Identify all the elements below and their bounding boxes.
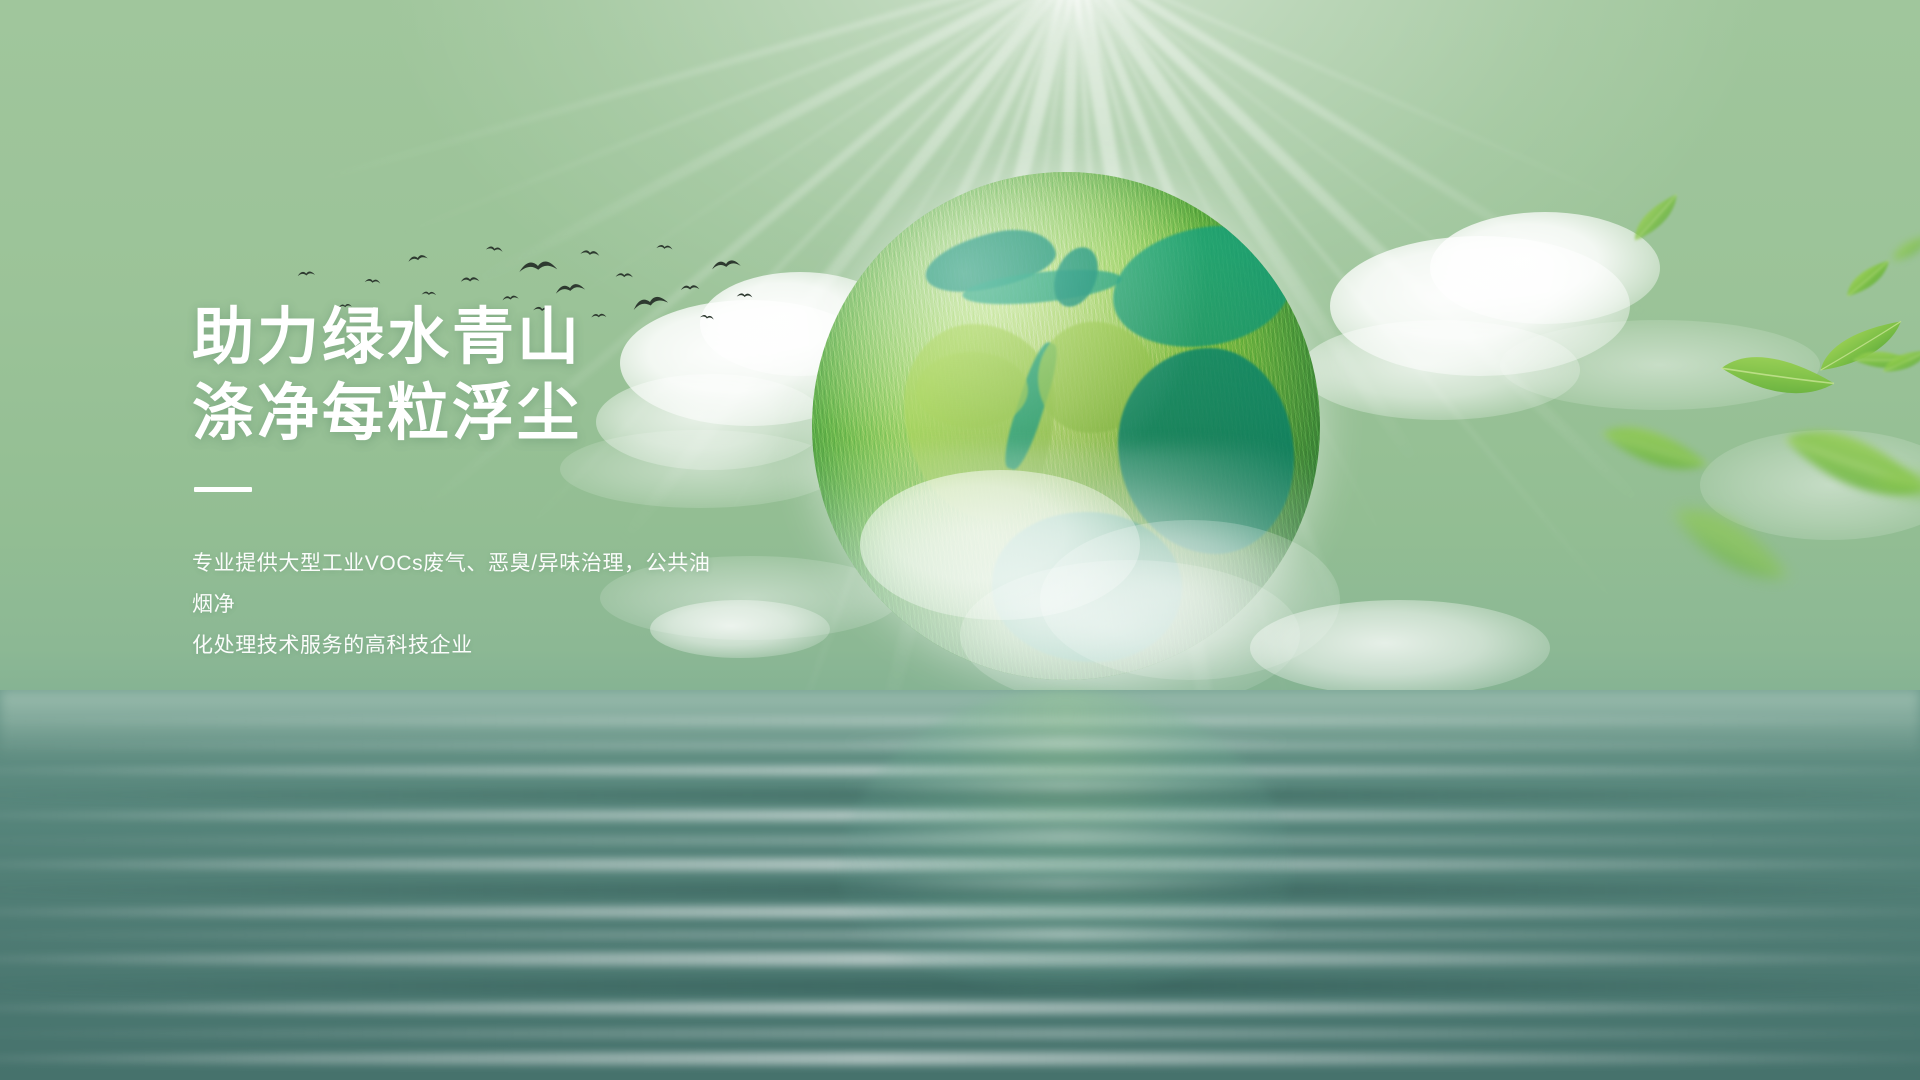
wave-13	[0, 1002, 1920, 1014]
hero-copy: 助力绿水青山 涤净每粒浮尘 专业提供大型工业VOCs废气、恶臭/异味治理，公共油…	[192, 300, 832, 667]
bird-icon	[679, 282, 709, 294]
wave-4	[0, 788, 1920, 802]
leaf-icon	[1661, 479, 1799, 615]
wave-3	[0, 766, 1920, 775]
page-title: 助力绿水青山 涤净每粒浮尘	[192, 300, 832, 451]
bird-icon	[655, 242, 681, 253]
globe-sphere	[812, 172, 1320, 680]
wave-9	[0, 906, 1920, 918]
leaf-icon	[1838, 256, 1900, 301]
bird-icon	[579, 247, 610, 261]
bird-icon	[363, 276, 388, 287]
green-earth-globe	[812, 172, 1320, 680]
globe-shading	[812, 172, 1320, 680]
wave-14	[0, 1028, 1920, 1039]
leaf-icon	[1886, 233, 1920, 266]
wave-7	[0, 858, 1920, 871]
bird-icon	[553, 280, 587, 296]
bird-icon	[459, 274, 488, 286]
wave-6	[0, 836, 1920, 845]
leaf-icon	[1623, 190, 1691, 247]
bird-icon	[420, 289, 443, 298]
sun-ray-24	[302, 0, 1073, 187]
cloud-right-large	[1330, 236, 1630, 376]
title-divider	[194, 487, 252, 492]
cloud-right-lower	[1300, 320, 1580, 420]
eco-banner: 助力绿水青山 涤净每粒浮尘 专业提供大型工业VOCs废气、恶臭/异味治理，公共油…	[0, 0, 1920, 1080]
wave-12	[0, 978, 1920, 994]
wave-11	[0, 952, 1920, 966]
bird-icon	[517, 257, 560, 275]
wave-5	[0, 810, 1920, 821]
subtitle-line-1: 专业提供大型工业VOCs废气、恶臭/异味治理，公共油烟净	[192, 552, 710, 616]
bird-icon	[296, 268, 324, 280]
wave-8	[0, 882, 1920, 898]
headline-line-1: 助力绿水青山	[192, 303, 582, 372]
headline-line-2: 涤净每粒浮尘	[192, 376, 832, 452]
wave-10	[0, 930, 1920, 940]
subtitle-line-2: 化处理技术服务的高科技企业	[192, 626, 732, 667]
wave-15	[0, 1052, 1920, 1065]
bird-icon	[406, 250, 438, 266]
wave-2	[0, 742, 1920, 750]
water-surface	[0, 690, 1920, 1080]
page-subtitle: 专业提供大型工业VOCs废气、恶臭/异味治理，公共油烟净 化处理技术服务的高科技…	[192, 544, 732, 667]
wave-1	[0, 716, 1920, 726]
bird-icon	[484, 243, 511, 256]
bird-icon	[710, 256, 743, 271]
bird-icon	[614, 271, 642, 282]
